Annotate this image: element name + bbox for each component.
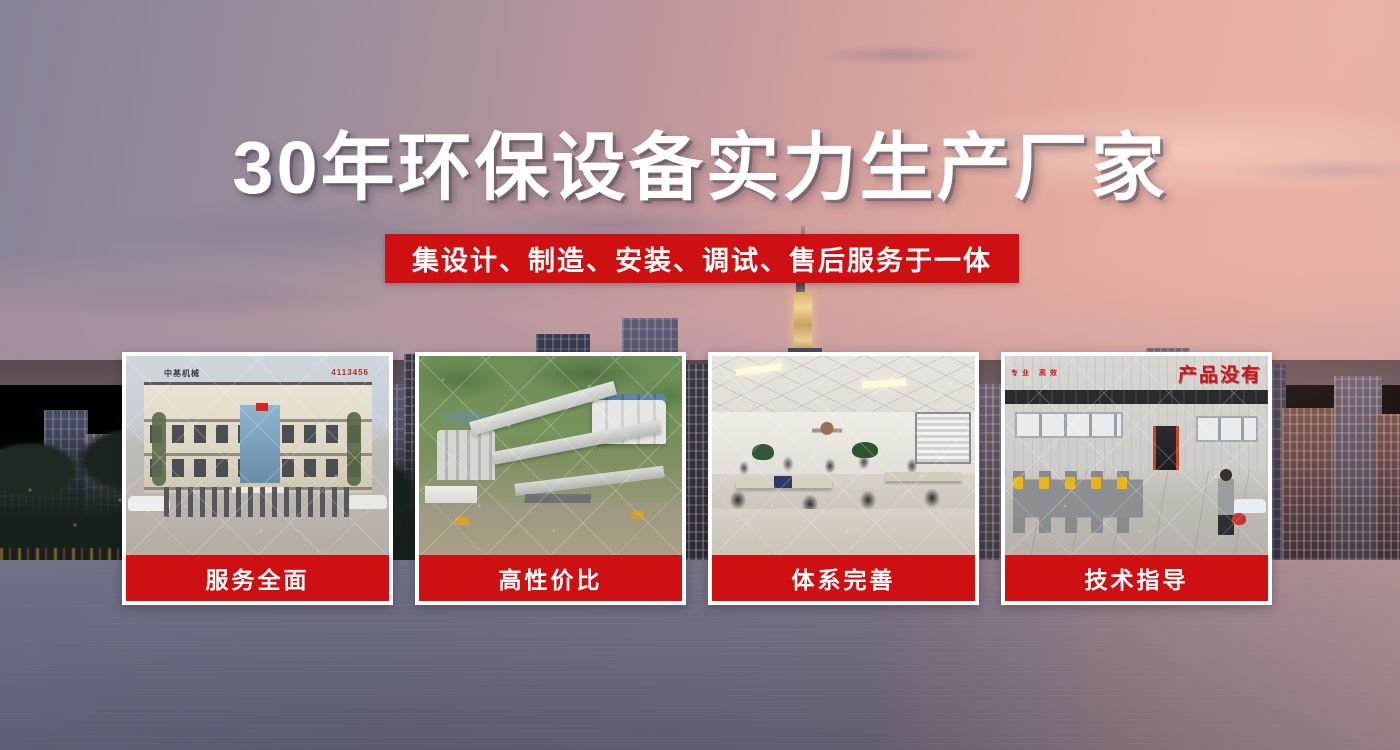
feature-card-row: 中基机械 4113456 服务全面 bbox=[122, 352, 1278, 605]
factory-sign-small: 专业 高效 bbox=[1011, 368, 1061, 378]
photo-office-building: 中基机械 4113456 bbox=[126, 356, 389, 555]
card-caption: 体系完善 bbox=[712, 555, 975, 601]
feature-card-service[interactable]: 中基机械 4113456 服务全面 bbox=[122, 352, 393, 605]
photo-office-interior bbox=[712, 356, 975, 555]
card-caption: 高性价比 bbox=[419, 555, 682, 601]
card-caption: 服务全面 bbox=[126, 555, 389, 601]
banner-subtitle-text: 集设计、制造、安装、调试、售后服务于一体 bbox=[412, 239, 992, 278]
feature-card-system[interactable]: 体系完善 bbox=[708, 352, 979, 605]
banner-stage: 30年环保设备实力生产厂家 集设计、制造、安装、调试、售后服务于一体 中基机械 … bbox=[0, 0, 1400, 750]
building-phone-text: 4113456 bbox=[331, 368, 369, 377]
factory-sign-large: 产品没有 bbox=[1178, 360, 1262, 387]
banner-subtitle-bar: 集设计、制造、安装、调试、售后服务于一体 bbox=[385, 234, 1019, 283]
photo-cement-plant bbox=[419, 356, 682, 555]
card-caption: 技术指导 bbox=[1005, 555, 1268, 601]
building-sign-text: 中基机械 bbox=[164, 368, 200, 379]
feature-card-value[interactable]: 高性价比 bbox=[415, 352, 686, 605]
photo-factory-workers: 专业 高效 产品没有 bbox=[1005, 356, 1268, 555]
feature-card-guidance[interactable]: 专业 高效 产品没有 技术指导 bbox=[1001, 352, 1272, 605]
banner-headline: 30年环保设备实力生产厂家 bbox=[0, 131, 1400, 205]
